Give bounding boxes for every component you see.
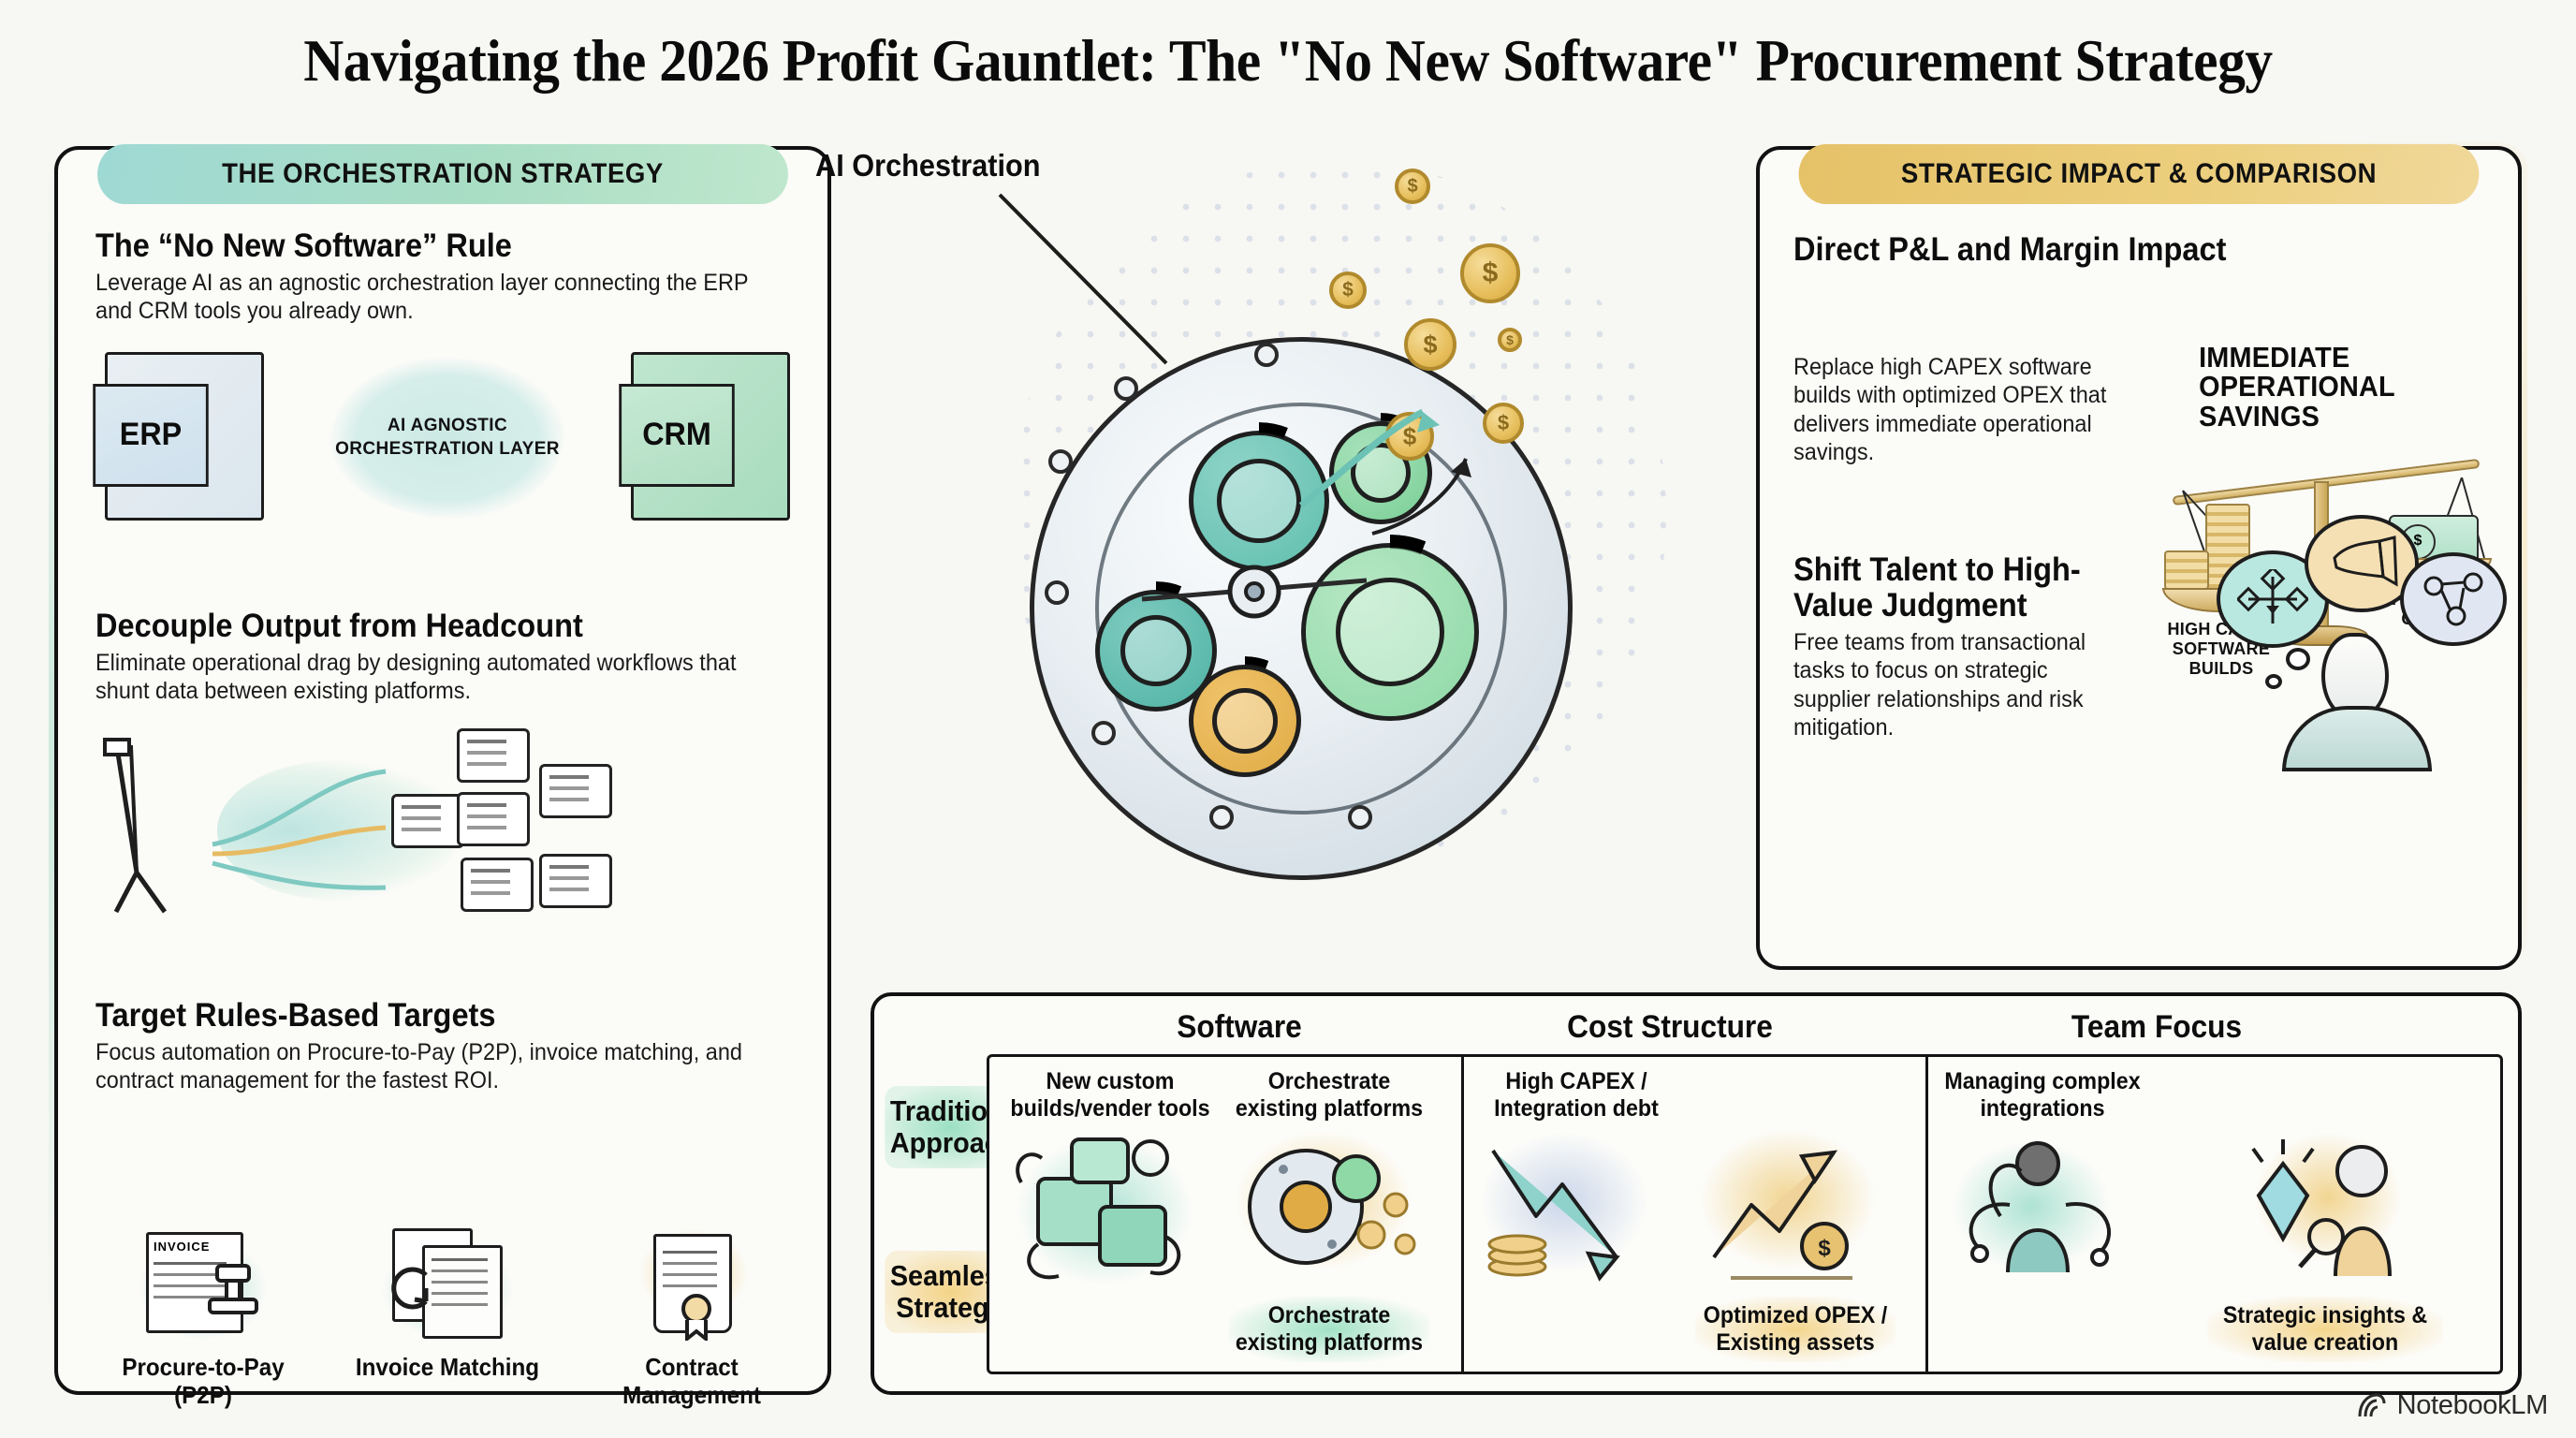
erp-server-icon: ERP (105, 352, 264, 521)
rivet (1209, 805, 1234, 829)
section-target-rules-based: Target Rules-Based Targets Focus automat… (95, 998, 799, 1095)
document-node (391, 794, 464, 848)
orchestrate-platforms-icon (1231, 1126, 1427, 1295)
right-panel-header: STRATEGIC IMPACT & COMPARISON (1799, 144, 2480, 204)
cell-seamless-software: Orchestrate existing platforms (1229, 1297, 1429, 1362)
rivet (1254, 343, 1279, 367)
workflow-automation-illustration (95, 723, 799, 938)
declining-chart-icon (1476, 1126, 1673, 1295)
document-node (457, 728, 530, 783)
rivet (1048, 449, 1073, 474)
document-node (539, 854, 612, 908)
section-body: Free teams from transactional tasks to f… (1793, 628, 2128, 742)
cell-traditional-software: New custom builds/vender tools (1010, 1068, 1210, 1123)
section-body: Leverage AI as an agnostic orchestration… (95, 269, 757, 326)
section-body: Eliminate operational drag by designing … (95, 649, 757, 706)
custom-builds-icon (1010, 1126, 1207, 1295)
coin: $ (1460, 243, 1520, 303)
document-node (461, 858, 534, 912)
cell-traditional-cost: High CAPEX / Integration debt (1476, 1068, 1676, 1123)
section-no-new-software: The “No New Software” Rule Leverage AI a… (95, 228, 799, 532)
rivet (1045, 580, 1069, 605)
erp-label: ERP (93, 384, 209, 487)
document-node (539, 764, 612, 818)
crm-label: CRM (619, 384, 735, 487)
section-shift-talent: Shift Talent to High-Value Judgment Free… (1793, 552, 2492, 742)
target-icons-row: INVOICE Procure-to-Pay (P2P) (95, 1223, 799, 1409)
rivet (1114, 376, 1138, 401)
column-divider (1925, 1057, 1928, 1372)
rivet (1091, 721, 1116, 745)
immediate-savings-label: IMMEDIATE OPERATIONAL SAVINGS (2199, 343, 2486, 432)
document-match-icon (377, 1223, 518, 1344)
left-panel-header: THE ORCHESTRATION STRATEGY (97, 144, 788, 204)
network-nodes-icon (2237, 569, 2308, 635)
document-node (457, 792, 530, 846)
growth-arrow-icon: $ (1693, 1126, 1890, 1295)
contract-seal-icon (622, 1223, 762, 1344)
column-header-team-focus: Team Focus (1948, 1009, 2365, 1046)
person-body (2282, 706, 2432, 771)
coin-flow-arrows (1282, 356, 1498, 562)
section-body: Replace high CAPEX software builds with … (1793, 353, 2128, 467)
orchestration-layer-label: AI AGNOSTIC ORCHESTRATION LAYER (330, 415, 564, 461)
erp-crm-diagram: ERP AI AGNOSTIC ORCHESTRATION LAYER CRM (95, 345, 799, 532)
column-header-cost-structure: Cost Structure (1487, 1009, 1853, 1046)
cell-seamless-cost: Optimized OPEX / Existing assets (1695, 1297, 1895, 1362)
caliper-compass-icon (99, 732, 212, 919)
icon-item-contract: Contract Management (584, 1223, 799, 1409)
notebooklm-logo-icon (2356, 1392, 2386, 1420)
icon-item-invoice-matching: Invoice Matching (340, 1223, 555, 1409)
cell-seamless-team: Strategic insights & value creation (2207, 1297, 2442, 1362)
cell-traditional-team: Managing complex integrations (1942, 1068, 2143, 1123)
gear-gold-bottom (1189, 665, 1301, 777)
column-divider (1461, 1057, 1464, 1372)
comparison-grid-inner: New custom builds/vender tools Orchestra… (987, 1054, 2503, 1374)
section-direct-pl-impact: Direct P&L and Margin Impact Replace hig… (1793, 232, 2492, 467)
coin: $ (1498, 328, 1522, 352)
crm-server-icon: CRM (631, 352, 790, 521)
orchestration-strategy-panel: THE ORCHESTRATION STRATEGY The “No New S… (54, 146, 831, 1395)
thought-bubble-dot (2265, 674, 2282, 689)
svg-text:$: $ (1818, 1236, 1831, 1261)
icon-item-p2p: INVOICE Procure-to-Pay (P2P) (95, 1223, 311, 1409)
comparison-table-panel: Software Cost Structure Team Focus Tradi… (871, 992, 2522, 1395)
coin: $ (1395, 169, 1430, 204)
section-title: Direct P&L and Margin Impact (1793, 232, 2443, 268)
thought-bubble-dot (2286, 648, 2310, 670)
section-title: The “No New Software” Rule (95, 228, 750, 264)
capex-opex-scale-illustration: IMMEDIATE OPERATIONAL SAVINGS HIGH CAPEX… (2162, 348, 2492, 467)
thinking-person-illustration (2162, 552, 2492, 742)
molecule-icon (2419, 571, 2490, 631)
icon-label: Procure-to-Pay (P2P) (103, 1354, 303, 1409)
invoice-stamp-icon: INVOICE (133, 1223, 273, 1344)
ai-orchestration-callout-label: AI Orchestration (815, 148, 1040, 183)
rivet (1348, 805, 1372, 829)
overwhelmed-person-icon (1942, 1126, 2139, 1295)
page-title: Navigating the 2026 Profit Gauntlet: The… (90, 26, 2485, 95)
icon-label: Invoice Matching (347, 1354, 548, 1382)
strategic-impact-panel: STRATEGIC IMPACT & COMPARISON Direct P&L… (1756, 146, 2522, 970)
section-body: Focus automation on Procure-to-Pay (P2P)… (95, 1038, 757, 1095)
section-decouple-output: Decouple Output from Headcount Eliminate… (95, 609, 799, 938)
ai-orchestration-illustration: AI Orchestration $ $ $ $ $ $ $ (842, 131, 1741, 1011)
section-title: Target Rules-Based Targets (95, 998, 750, 1034)
icon-label: Contract Management (592, 1354, 792, 1409)
section-title: Shift Talent to High-Value Judgment (1793, 552, 2124, 624)
cell-seamless-software-top-dup: Orchestrate existing platforms (1229, 1068, 1429, 1123)
orchestration-layer-blob: AI AGNOSTIC ORCHESTRATION LAYER (330, 358, 564, 519)
watermark-label: NotebookLM (2397, 1390, 2548, 1421)
coin: $ (1329, 271, 1367, 309)
section-title: Decouple Output from Headcount (95, 609, 750, 644)
column-header-software: Software (1057, 1009, 1423, 1046)
notebooklm-watermark: NotebookLM (2356, 1390, 2548, 1421)
strategic-insight-person-icon (2225, 1126, 2422, 1295)
megaphone-icon (2327, 536, 2400, 594)
